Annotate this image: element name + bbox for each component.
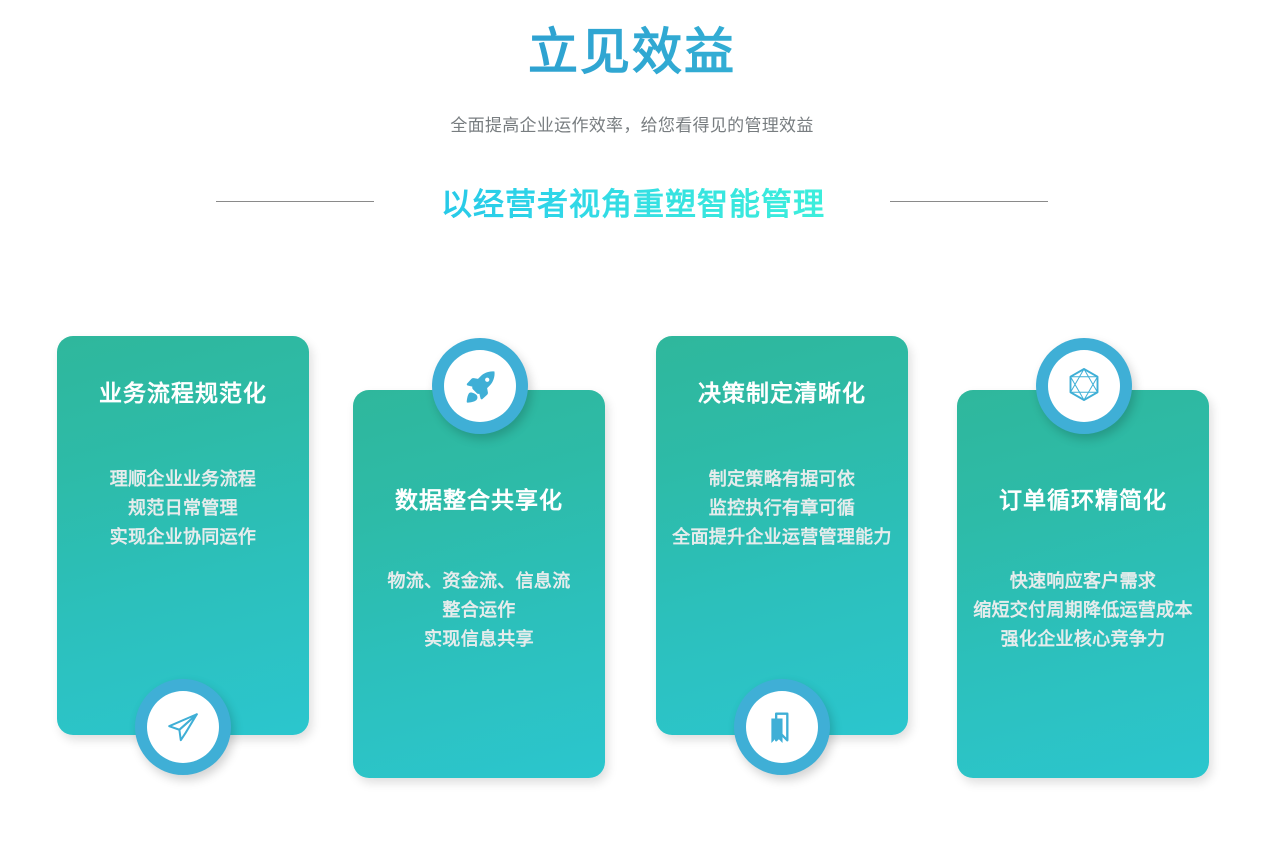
badge-inner-circle [746, 691, 818, 763]
card-title: 决策制定清晰化 [670, 378, 894, 408]
badge-inner-circle [1048, 350, 1120, 422]
card-body: 快速响应客户需求缩短交付周期降低运营成本强化企业核心竞争力 [971, 567, 1195, 654]
card-title: 业务流程规范化 [71, 378, 295, 408]
badge-inner-circle [147, 691, 219, 763]
benefit-card[interactable]: 数据整合共享化 物流、资金流、信息流整合运作实现信息共享 [353, 390, 605, 778]
card-body: 理顺企业业务流程规范日常管理实现企业协同运作 [71, 465, 295, 552]
card-icon-badge[interactable] [734, 679, 830, 775]
badge-inner-circle [444, 350, 516, 422]
hexagon-network-icon [1064, 366, 1104, 406]
card-icon-badge[interactable] [1036, 338, 1132, 434]
benefit-card[interactable]: 业务流程规范化 理顺企业业务流程规范日常管理实现企业协同运作 [57, 336, 309, 735]
benefit-card[interactable]: 决策制定清晰化 制定策略有据可依监控执行有章可循全面提升企业运营管理能力 [656, 336, 908, 735]
bookmark-icon [766, 710, 798, 744]
rocket-icon [463, 369, 497, 403]
card-title: 订单循环精简化 [971, 485, 1195, 515]
paper-plane-icon [166, 710, 200, 744]
card-icon-badge[interactable] [432, 338, 528, 434]
card-body: 物流、资金流、信息流整合运作实现信息共享 [367, 567, 591, 654]
benefit-card[interactable]: 订单循环精简化 快速响应客户需求缩短交付周期降低运营成本强化企业核心竞争力 [957, 390, 1209, 778]
card-icon-badge[interactable] [135, 679, 231, 775]
benefit-cards: 业务流程规范化 理顺企业业务流程规范日常管理实现企业协同运作 数据整合共享化 物… [0, 0, 1264, 859]
card-body: 制定策略有据可依监控执行有章可循全面提升企业运营管理能力 [670, 465, 894, 552]
benefits-page: 立见效益 全面提高企业运作效率，给您看得见的管理效益 以经营者视角重塑智能管理 … [0, 0, 1264, 859]
card-title: 数据整合共享化 [367, 485, 591, 515]
